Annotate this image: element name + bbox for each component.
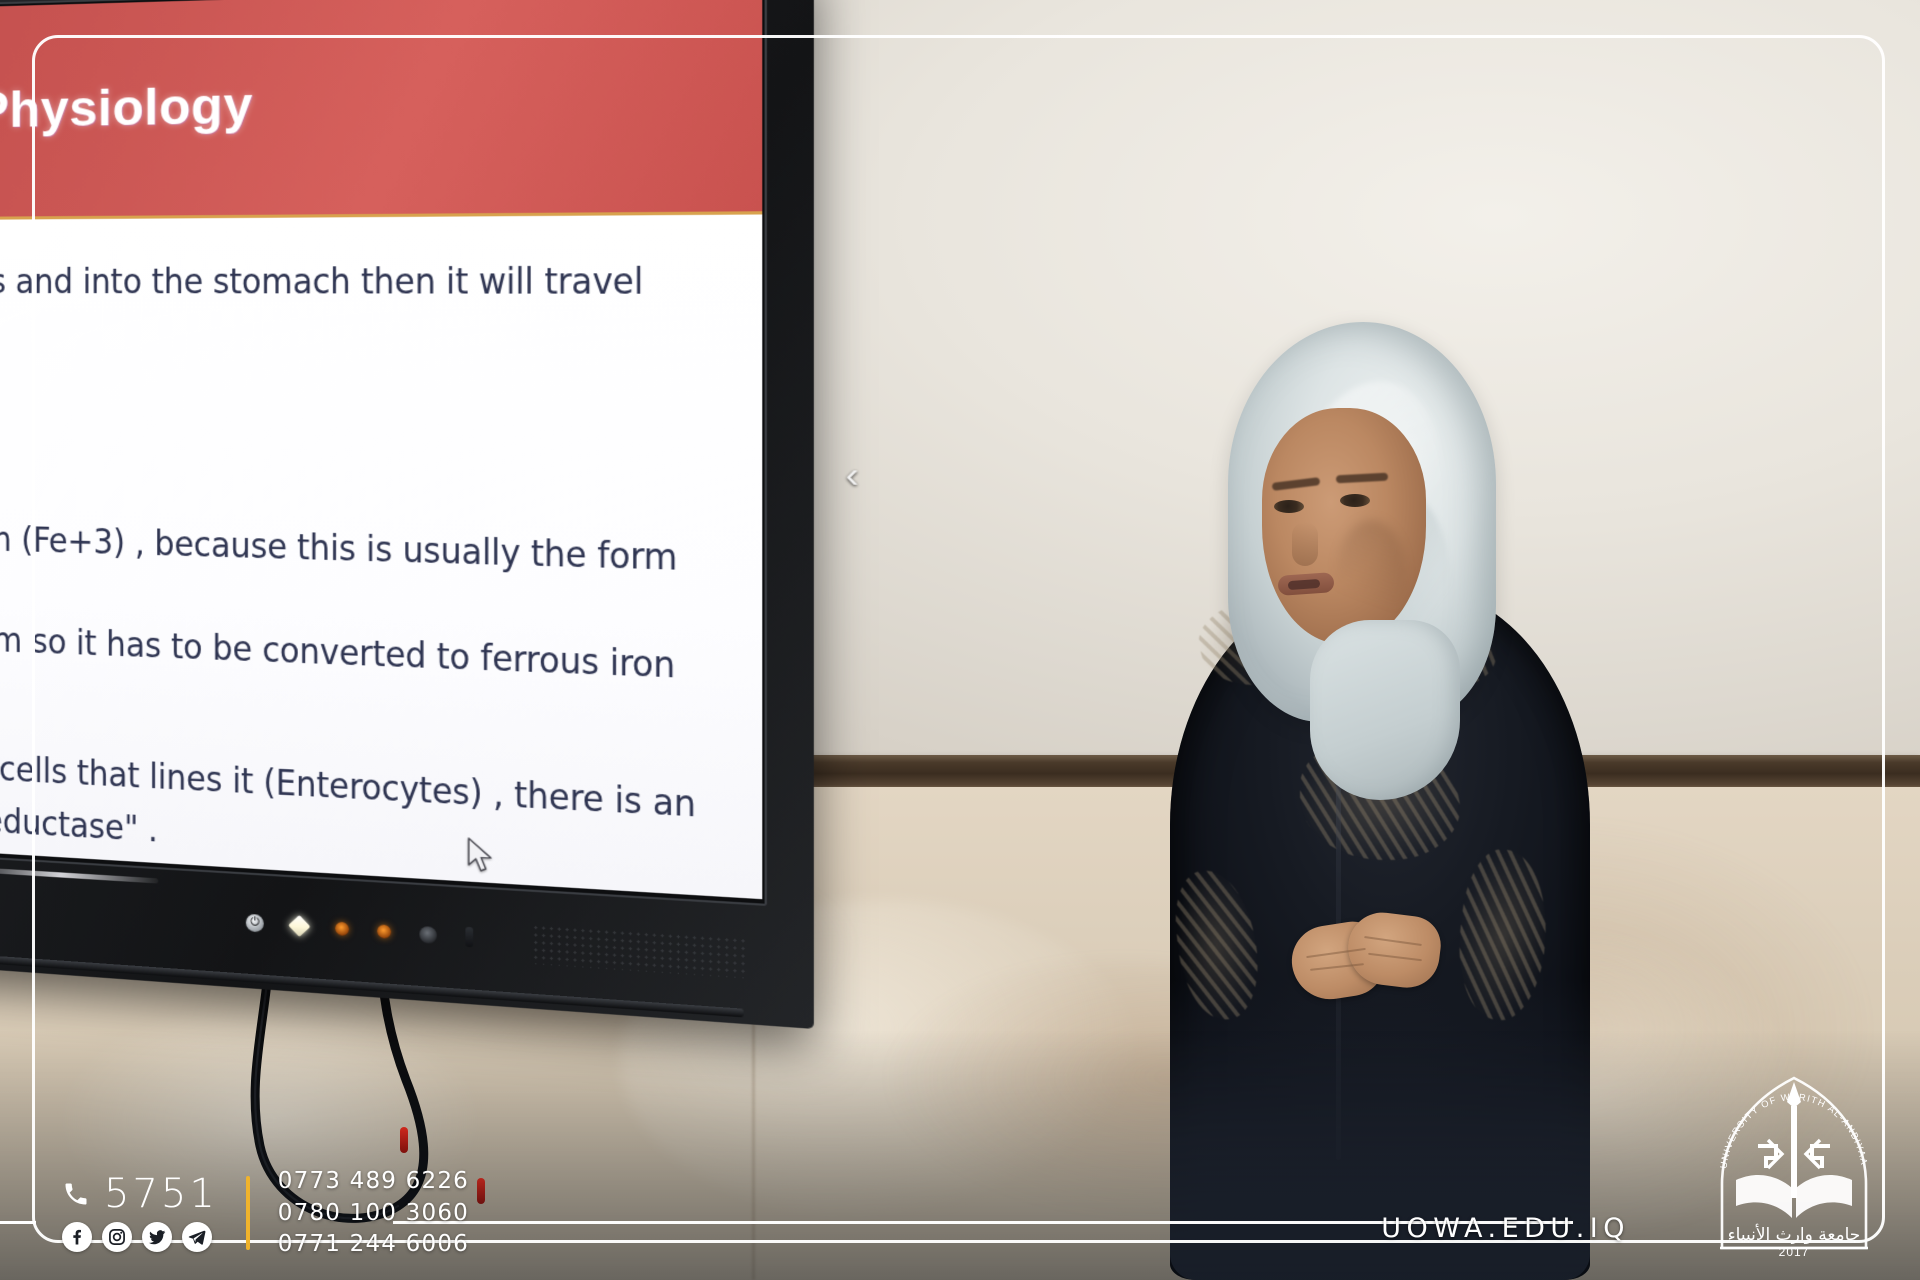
hotline-row: 5751 — [62, 1174, 218, 1214]
university-of-warith-al-anbiyaa-logo: UNIVERSITY OF WARITH AL-ANBIYAA جامعة وا… — [1706, 1072, 1882, 1262]
contact-block: 5751 — [62, 1168, 469, 1258]
slide-text-line: rireductase" . — [0, 801, 158, 850]
phone-number[interactable]: 0780 100 3060 — [278, 1200, 469, 1227]
slide-title: Physiology — [0, 75, 253, 139]
footer-bar: 5751 — [0, 1130, 1920, 1280]
interactive-flat-panel[interactable]: Physiology gus and into the stomach then… — [0, 0, 814, 1029]
phone-number[interactable]: 0773 489 6226 — [278, 1168, 469, 1195]
status-led-white — [288, 915, 311, 937]
power-button[interactable]: ⏻ — [246, 914, 264, 933]
twitter-icon[interactable] — [142, 1222, 172, 1252]
display-screen[interactable]: Physiology gus and into the stomach then… — [0, 0, 762, 899]
slide-text-line: orm (Fe+3) , because this is usually the… — [0, 520, 677, 578]
logo-arabic-text: جامعة وارث الأنبياء — [1728, 1224, 1861, 1245]
hotline-number[interactable]: 5751 — [104, 1174, 218, 1214]
hijab-drape — [1310, 620, 1460, 800]
phone-number-list: 0773 489 6226 0780 100 3060 0771 244 600… — [278, 1168, 469, 1258]
social-icons[interactable] — [62, 1222, 218, 1252]
eye — [1274, 500, 1304, 513]
photo-scene: Physiology gus and into the stomach then… — [0, 0, 1920, 1280]
footer-rule-left — [0, 1221, 36, 1224]
arrow-pointer-icon — [467, 837, 496, 875]
slide-text-line: form so it has to be converted to ferrou… — [0, 620, 675, 686]
sensor-button[interactable] — [419, 925, 436, 943]
hotline-column: 5751 — [62, 1174, 218, 1252]
face-shading — [1336, 520, 1406, 630]
nose — [1292, 522, 1318, 566]
website-url[interactable]: UOWA.EDU.IQ — [1381, 1215, 1630, 1242]
facebook-icon[interactable] — [62, 1222, 92, 1252]
phone-icon — [62, 1180, 90, 1208]
status-led-orange-1 — [335, 922, 349, 936]
side-toolbar-chevron-icon[interactable]: ‹ — [845, 456, 858, 494]
ir-receiver — [465, 927, 473, 948]
telegram-icon[interactable] — [182, 1222, 212, 1252]
status-led-orange-2 — [377, 924, 391, 939]
slide-text-line: gus and into the stomach then it will tr… — [0, 263, 643, 303]
slide-body: gus and into the stomach then it will tr… — [0, 214, 762, 899]
eye — [1340, 494, 1370, 507]
slide-title-bar: Physiology — [0, 0, 762, 220]
phone-number[interactable]: 0771 244 6006 — [278, 1231, 469, 1258]
footer-divider — [246, 1176, 250, 1250]
clasped-hands — [1292, 910, 1442, 1020]
instagram-icon[interactable] — [102, 1222, 132, 1252]
